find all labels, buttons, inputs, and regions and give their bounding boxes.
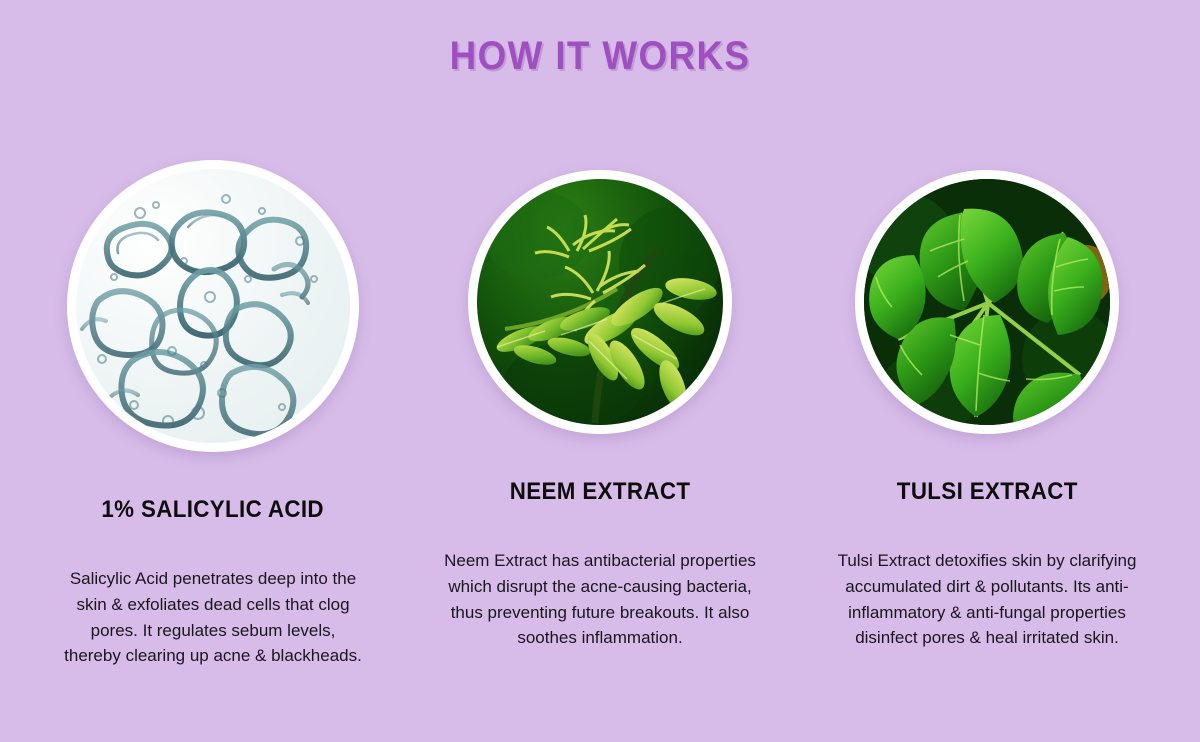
neem-leaves-image xyxy=(477,179,723,425)
ingredient-description-tulsi: Tulsi Extract detoxifies skin by clarify… xyxy=(831,548,1143,651)
salicylic-acid-image-frame xyxy=(67,160,359,452)
ingredient-card-tulsi: TULSI EXTRACT Tulsi Extract detoxifies s… xyxy=(794,144,1180,669)
water-bubbles-illustration xyxy=(76,169,350,443)
ingredient-title-salicylic-acid: 1% SALICYLIC ACID xyxy=(102,496,325,524)
tulsi-leaves-illustration xyxy=(864,179,1110,425)
ingredients-row: 1% SALICYLIC ACID Salicylic Acid penetra… xyxy=(0,144,1200,669)
neem-branch-illustration xyxy=(477,179,723,425)
neem-image-frame xyxy=(468,170,732,434)
salicylic-acid-water-bubbles-image xyxy=(76,169,350,443)
ingredient-title-neem: NEEM EXTRACT xyxy=(510,478,691,506)
ingredient-card-neem: NEEM EXTRACT Neem Extract has antibacter… xyxy=(407,144,793,669)
ingredient-title-tulsi: TULSI EXTRACT xyxy=(897,478,1078,506)
tulsi-image-frame xyxy=(855,170,1119,434)
ingredient-description-salicylic-acid: Salicylic Acid penetrates deep into the … xyxy=(63,566,363,669)
tulsi-leaves-image xyxy=(864,179,1110,425)
ingredient-card-salicylic-acid: 1% SALICYLIC ACID Salicylic Acid penetra… xyxy=(20,144,406,669)
page-title: HOW IT WORKS xyxy=(48,34,1152,79)
ingredient-description-neem: Neem Extract has antibacterial propertie… xyxy=(444,548,756,651)
